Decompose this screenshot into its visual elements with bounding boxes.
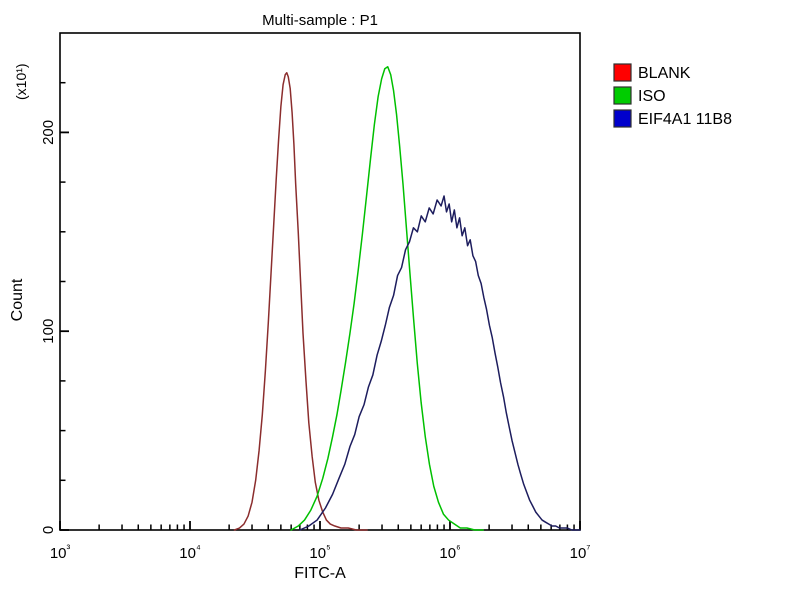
legend: BLANKISOEIF4A1 11B8 xyxy=(614,64,732,128)
y-tick-label: 100 xyxy=(40,319,57,344)
legend-swatch xyxy=(614,64,631,81)
y-tick-label: 200 xyxy=(40,120,57,145)
x-tick-label: 10⁵ xyxy=(309,543,330,562)
x-tick-label: 10⁶ xyxy=(439,543,460,562)
chart-title: Multi-sample : P1 xyxy=(262,12,378,29)
legend-swatch xyxy=(614,110,631,127)
flow-cytometry-histogram-window: Multi-sample : P1 (x10¹) 10³10⁴10⁵10⁶10⁷… xyxy=(0,0,800,600)
histogram-plot: Multi-sample : P1 (x10¹) 10³10⁴10⁵10⁶10⁷… xyxy=(0,0,800,600)
x-axis-title: FITC-A xyxy=(294,565,346,582)
y-tick-label: 0 xyxy=(40,526,57,534)
legend-label: ISO xyxy=(638,88,666,105)
legend-label: EIF4A1 11B8 xyxy=(638,111,732,128)
x-tick-label: 10⁷ xyxy=(570,543,591,562)
plot-frame xyxy=(60,33,580,530)
legend-label: BLANK xyxy=(638,65,691,82)
y-axis-multiplier-label: (x10¹) xyxy=(13,63,29,100)
x-tick-label: 10⁴ xyxy=(179,543,201,562)
legend-swatch xyxy=(614,87,631,104)
x-tick-label: 10³ xyxy=(50,543,71,562)
y-axis-title: Count xyxy=(9,278,26,321)
